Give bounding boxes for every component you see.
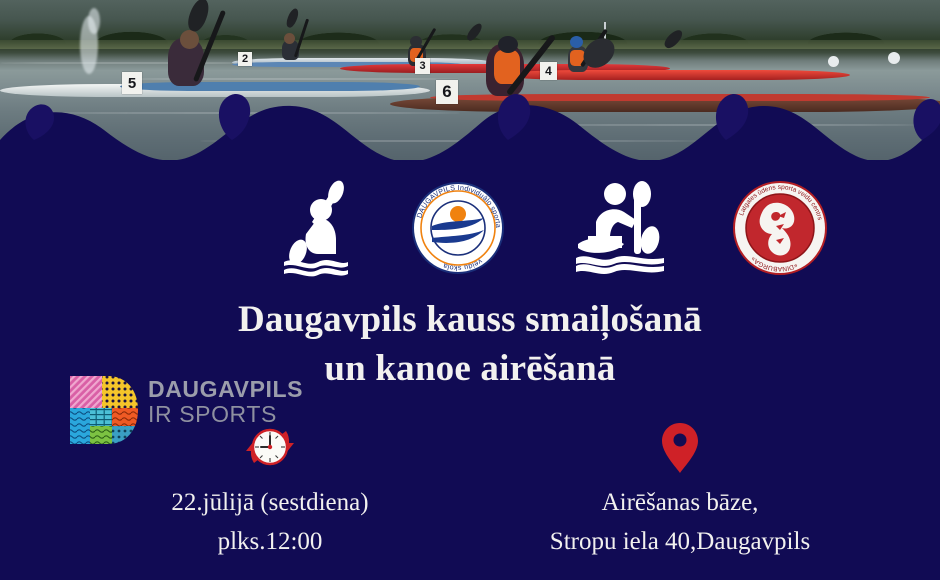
kayak-paddler-icon xyxy=(278,178,352,278)
place-block: Airēšanas bāze, Stropu iela 40,Daugavpil… xyxy=(470,418,890,562)
water-splash xyxy=(88,8,100,34)
kayak-boat-stripe xyxy=(120,82,420,91)
droplet xyxy=(716,94,748,140)
date-text: 22.jūlijā (sestdiena) plks.12:00 xyxy=(60,484,480,562)
individualo-sporta-veidu-skola-emblem: DAUGAVPILS Individuālo sporta veidu skol… xyxy=(406,178,510,278)
lane-number: 5 xyxy=(122,72,142,94)
paddler-cap xyxy=(570,36,583,48)
droplet xyxy=(25,104,54,140)
droplet xyxy=(498,94,530,140)
droplet xyxy=(913,99,940,140)
map-pin-icon-wrap xyxy=(470,418,890,476)
lane-number: 4 xyxy=(540,62,557,80)
place-text: Airēšanas bāze, Stropu iela 40,Daugavpil… xyxy=(470,484,890,562)
title-line-1: Daugavpils kauss smaiļošanā xyxy=(0,296,940,345)
dinaburga-water-sports-emblem: Latgales ūdens sporta veidu centrs «DINA… xyxy=(726,178,834,278)
event-date: 22.jūlijā (sestdiena) xyxy=(60,484,480,523)
venue-address: Stropu iela 40,Daugavpils xyxy=(470,523,890,562)
water-ripple xyxy=(0,62,260,64)
course-buoy xyxy=(888,52,900,64)
clock-icon-wrap xyxy=(60,418,480,476)
title-line-2: un kanoe airēšanā xyxy=(0,345,940,394)
far-bank xyxy=(0,40,940,49)
lane-number: 3 xyxy=(415,58,430,74)
droplet xyxy=(219,94,250,140)
wave-droplets xyxy=(0,92,940,162)
paddler-cap xyxy=(498,36,518,53)
poster-title: Daugavpils kauss smaiļošanā un kanoe air… xyxy=(0,296,940,394)
canoe-paddler-icon xyxy=(572,178,668,278)
clock-icon xyxy=(242,419,298,475)
event-time: plks.12:00 xyxy=(60,523,480,562)
map-pin-icon xyxy=(657,419,703,475)
event-poster: 2 3 4 5 6 xyxy=(0,0,940,580)
lane-number: 2 xyxy=(238,52,252,66)
partner-logo-row: DAUGAVPILS IR SPORTS xyxy=(0,178,940,278)
paddler-head xyxy=(284,33,295,44)
paddler-cap xyxy=(410,36,422,47)
course-buoy xyxy=(828,56,839,67)
paddler-head xyxy=(180,30,199,49)
venue-name: Airēšanas bāze, xyxy=(470,484,890,523)
date-block: 22.jūlijā (sestdiena) plks.12:00 xyxy=(60,418,480,562)
